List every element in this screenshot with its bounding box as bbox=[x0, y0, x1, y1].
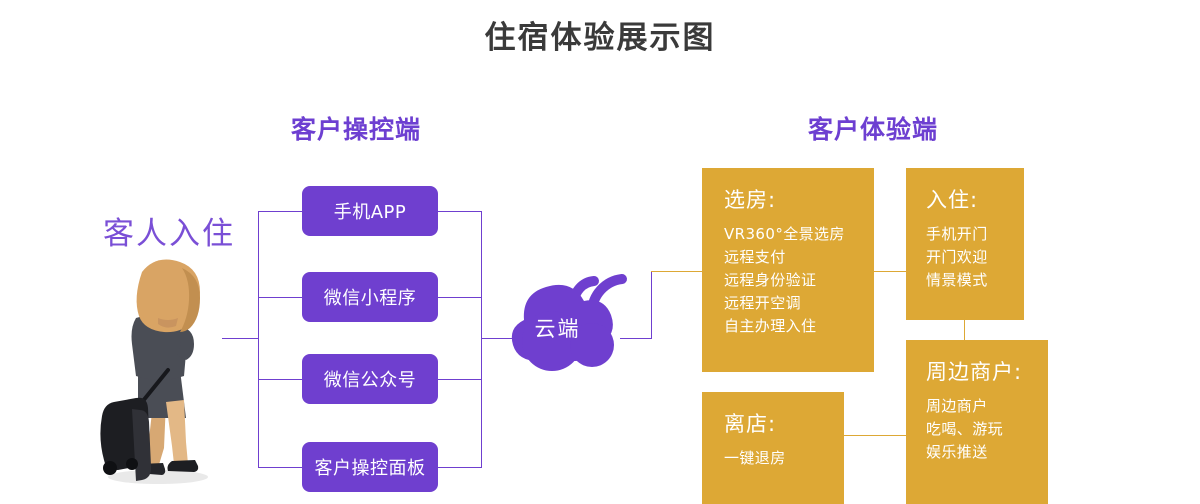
stage-item: 吃喝、游玩 bbox=[926, 418, 1048, 441]
connector-cloud-riser bbox=[651, 271, 652, 339]
stage-title: 周边商户: bbox=[926, 356, 1048, 386]
section-header-client-control: 客户操控端 bbox=[291, 110, 421, 146]
section-header-client-experience: 客户体验端 bbox=[808, 110, 938, 146]
page-title: 住宿体验展示图 bbox=[0, 12, 1200, 57]
connector-cloud-out bbox=[620, 338, 652, 339]
connector-cloud-to-select bbox=[651, 271, 703, 272]
stage-box-select-room[interactable]: 选房: VR360°全景选房 远程支付 远程身份验证 远程开空调 自主办理入住 bbox=[702, 168, 874, 372]
stage-item: VR360°全景选房 bbox=[724, 223, 874, 246]
stage-item: 自主办理入住 bbox=[724, 315, 874, 338]
guest-label: 客人入住 bbox=[103, 208, 235, 253]
connector-branch-mini bbox=[258, 297, 303, 298]
connector-checkout-to-merchants bbox=[844, 435, 907, 436]
connector-panel-to-spine bbox=[438, 467, 482, 468]
stage-item: 情景模式 bbox=[926, 269, 1024, 292]
stage-item: 周边商户 bbox=[926, 395, 1048, 418]
stage-item: 手机开门 bbox=[926, 223, 1024, 246]
cloud-label: 云端 bbox=[500, 313, 615, 343]
guest-illustration bbox=[96, 252, 216, 488]
connector-right-spine bbox=[481, 211, 482, 468]
channel-box-wechat-official[interactable]: 微信公众号 bbox=[302, 354, 438, 404]
connector-guest-to-bracket bbox=[222, 338, 259, 339]
stage-item: 远程身份验证 bbox=[724, 269, 874, 292]
stage-title: 入住: bbox=[926, 184, 1024, 214]
stage-item: 娱乐推送 bbox=[926, 441, 1048, 464]
stage-title: 离店: bbox=[724, 408, 844, 438]
connector-branch-app bbox=[258, 211, 303, 212]
stage-item: 远程支付 bbox=[724, 246, 874, 269]
channel-box-mobile-app[interactable]: 手机APP bbox=[302, 186, 438, 236]
stage-box-nearby-merchants[interactable]: 周边商户: 周边商户 吃喝、游玩 娱乐推送 bbox=[906, 340, 1048, 504]
channel-box-control-panel[interactable]: 客户操控面板 bbox=[302, 442, 438, 492]
stage-box-check-in[interactable]: 入住: 手机开门 开门欢迎 情景模式 bbox=[906, 168, 1024, 320]
connector-checkin-to-merchants bbox=[964, 320, 965, 341]
connector-select-to-checkin bbox=[874, 271, 907, 272]
connector-mp-to-spine bbox=[438, 379, 482, 380]
stage-box-check-out[interactable]: 离店: 一键退房 bbox=[702, 392, 844, 504]
stage-item: 远程开空调 bbox=[724, 292, 874, 315]
channel-box-wechat-mini[interactable]: 微信小程序 bbox=[302, 272, 438, 322]
connector-branch-mp bbox=[258, 379, 303, 380]
stage-item: 一键退房 bbox=[724, 447, 844, 470]
connector-branch-panel bbox=[258, 467, 303, 468]
connector-app-to-spine bbox=[438, 211, 482, 212]
connector-left-spine bbox=[258, 211, 259, 468]
stage-title: 选房: bbox=[724, 184, 874, 214]
cloud-node[interactable]: 云端 bbox=[500, 255, 635, 380]
stage-item: 开门欢迎 bbox=[926, 246, 1024, 269]
diagram-canvas: 住宿体验展示图 客户操控端 客户体验端 客人入住 bbox=[0, 0, 1200, 504]
connector-mini-to-spine bbox=[438, 297, 482, 298]
